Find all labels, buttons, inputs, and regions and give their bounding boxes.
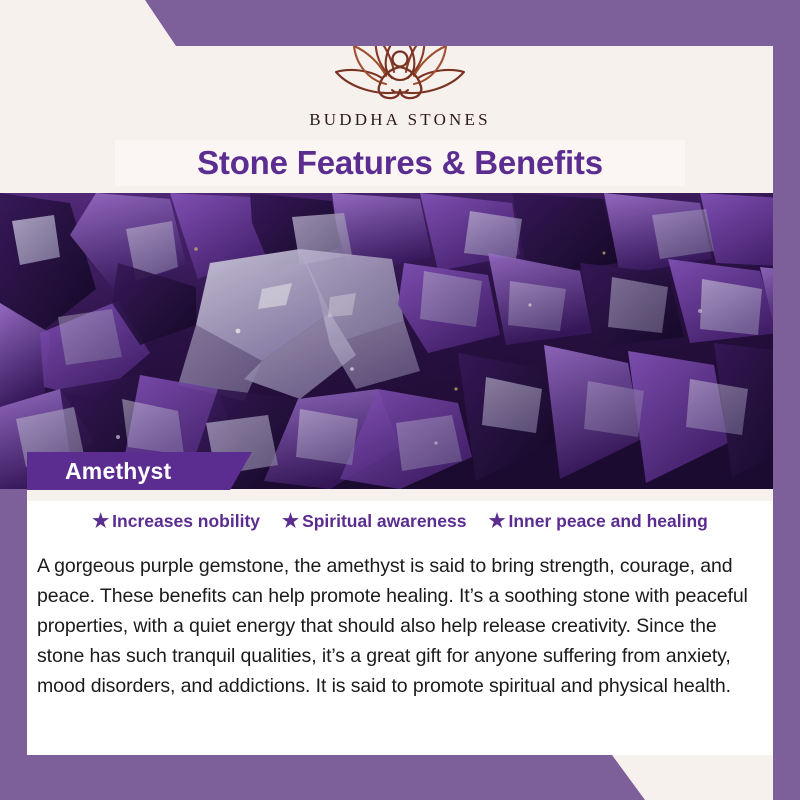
stone-description: A gorgeous purple gemstone, the amethyst… bbox=[37, 551, 767, 701]
page-title-bar: Stone Features & Benefits bbox=[115, 140, 685, 186]
feature-item: ★ Inner peace and healing bbox=[488, 511, 707, 532]
content-section: ★ Increases nobility ★ Spiritual awarene… bbox=[27, 489, 773, 755]
star-icon: ★ bbox=[92, 512, 109, 531]
stone-name-ribbon: Amethyst bbox=[27, 452, 252, 490]
frame-right-band bbox=[773, 0, 800, 800]
feature-label: Inner peace and healing bbox=[509, 511, 708, 532]
star-icon: ★ bbox=[488, 512, 505, 531]
star-icon: ★ bbox=[282, 512, 299, 531]
feature-item: ★ Increases nobility bbox=[92, 511, 260, 532]
feature-label: Increases nobility bbox=[112, 511, 260, 532]
feature-label: Spiritual awareness bbox=[302, 511, 466, 532]
stone-name-label: Amethyst bbox=[27, 458, 171, 485]
cream-divider bbox=[27, 489, 773, 501]
frame-left-band bbox=[0, 489, 27, 800]
feature-list: ★ Increases nobility ★ Spiritual awarene… bbox=[27, 511, 773, 532]
poster-root: BUDDHA STONES Stone Features & Benefits bbox=[0, 0, 800, 800]
page-title: Stone Features & Benefits bbox=[197, 144, 603, 182]
feature-item: ★ Spiritual awareness bbox=[282, 511, 466, 532]
hero-image bbox=[0, 193, 800, 489]
frame-bottom-band bbox=[0, 755, 800, 800]
brand-name: BUDDHA STONES bbox=[309, 110, 491, 130]
amethyst-crystal-cluster-photo bbox=[0, 193, 800, 489]
